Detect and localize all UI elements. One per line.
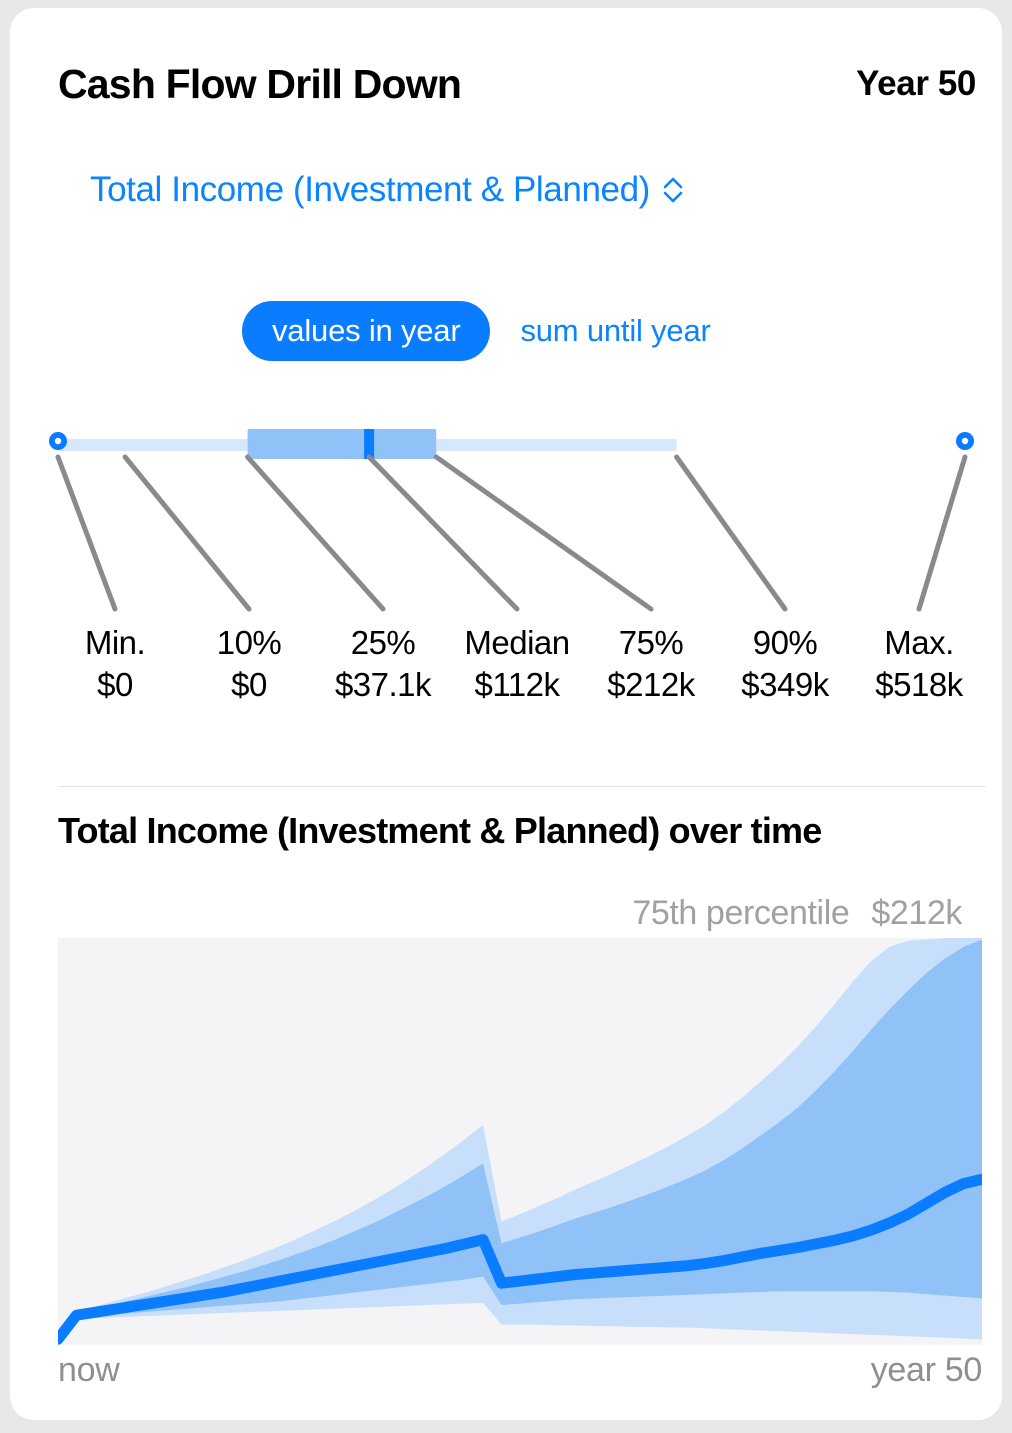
percentile-bar[interactable] (10, 413, 1002, 648)
axis-label-end: year 50 (871, 1351, 982, 1390)
percentile-value: $112k (450, 664, 584, 706)
percentile-leader-line (248, 457, 383, 609)
timeseries-plot[interactable] (58, 938, 982, 1345)
percentile-stat-p90: 90% $349k (718, 622, 852, 706)
percentile-endpoint-center-max (962, 438, 968, 444)
percentile-name: Max. (852, 622, 986, 664)
toggle-values-in-year[interactable]: values in year (242, 301, 490, 361)
percentile-leader-line (369, 457, 517, 609)
percentile-name: Median (450, 622, 584, 664)
percentile-name: 25% (316, 622, 450, 664)
cash-flow-drill-down-card: Cash Flow Drill Down Year 50 Total Incom… (10, 8, 1002, 1420)
page-title: Cash Flow Drill Down (58, 56, 461, 112)
axis-label-start: now (58, 1351, 119, 1390)
card-header: Cash Flow Drill Down Year 50 (58, 56, 976, 112)
percentile-label-row: Min. $0 10% $0 25% $37.1k Median $112k 7… (48, 622, 986, 706)
percentile-leader-line (58, 457, 115, 609)
percentile-stat-p75: 75% $212k (584, 622, 718, 706)
percentile-endpoint-center-min (55, 438, 61, 444)
metric-selector-label: Total Income (Investment & Planned) (90, 170, 650, 210)
percentile-stat-p10: 10% $0 (182, 622, 316, 706)
metric-selector[interactable]: Total Income (Investment & Planned) (90, 170, 684, 210)
toggle-sum-until-year[interactable]: sum until year (490, 301, 740, 361)
timeseries-axis-labels: now year 50 (58, 1351, 982, 1390)
timeseries-legend: 75th percentile $212k (632, 894, 962, 933)
app-screen: Cash Flow Drill Down Year 50 Total Incom… (0, 0, 1012, 1433)
percentile-name: 10% (182, 622, 316, 664)
percentile-leader-line (919, 457, 965, 609)
percentile-name: 75% (584, 622, 718, 664)
legend-percentile-label: 75th percentile (632, 894, 849, 933)
percentile-leader-line (125, 457, 249, 609)
percentile-iqr-box (248, 429, 437, 459)
chevron-up-down-icon (662, 175, 684, 205)
percentile-name: 90% (718, 622, 852, 664)
legend-percentile-value: $212k (871, 894, 962, 933)
aggregation-mode-toggle[interactable]: values in year sum until year (242, 301, 741, 361)
percentile-stat-min: Min. $0 (48, 622, 182, 706)
percentile-leader-line (677, 457, 785, 609)
percentile-value: $349k (718, 664, 852, 706)
percentile-stat-max: Max. $518k (852, 622, 986, 706)
percentile-name: Min. (48, 622, 182, 664)
year-badge: Year 50 (856, 56, 976, 112)
percentile-value: $0 (48, 664, 182, 706)
percentile-stat-p25: 25% $37.1k (316, 622, 450, 706)
timeseries-title: Total Income (Investment & Planned) over… (58, 810, 822, 852)
percentile-stat-median: Median $112k (450, 622, 584, 706)
percentile-value: $212k (584, 664, 718, 706)
percentile-value: $37.1k (316, 664, 450, 706)
section-divider (58, 786, 986, 787)
percentile-leader-line (436, 457, 651, 609)
percentile-value: $0 (182, 664, 316, 706)
percentile-value: $518k (852, 664, 986, 706)
